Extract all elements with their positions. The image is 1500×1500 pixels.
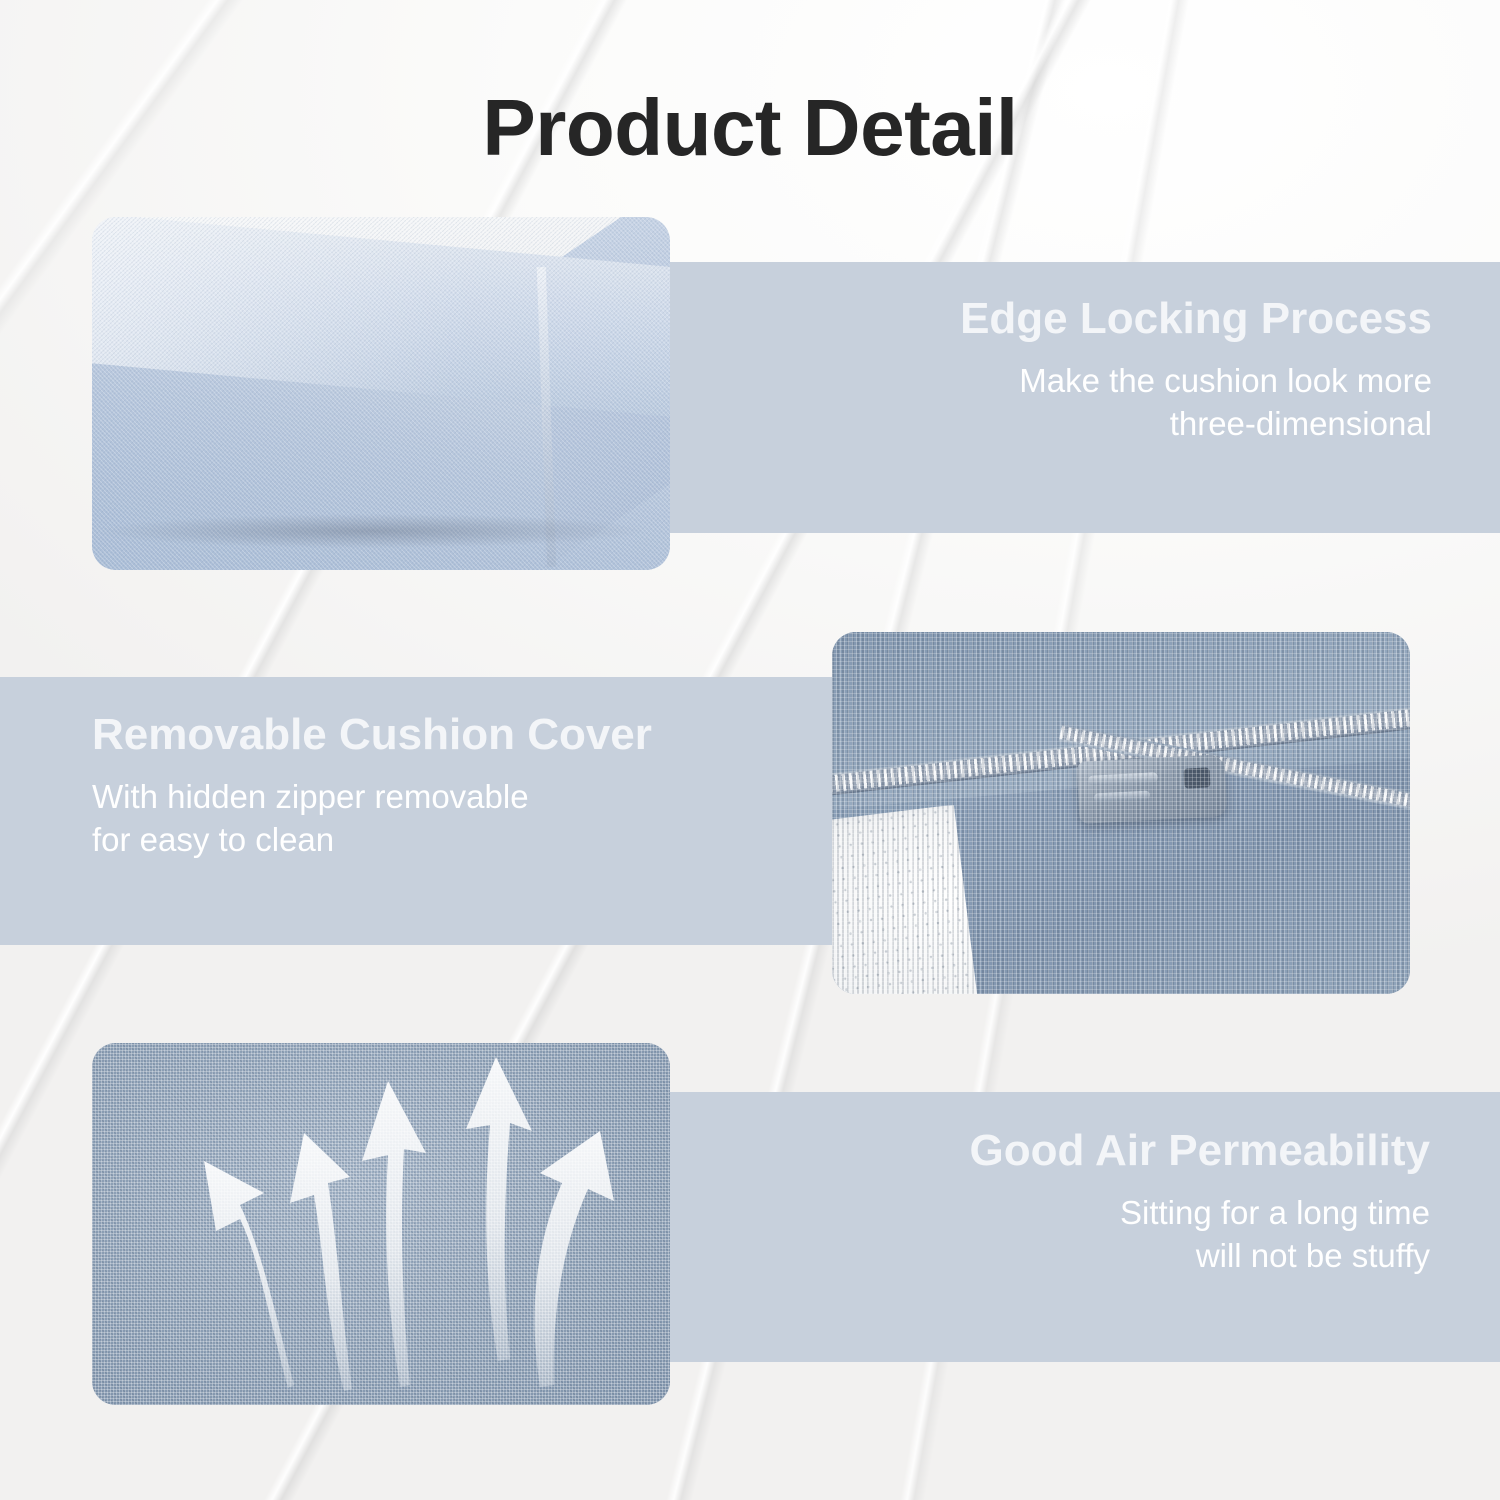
panel-heading-edge-locking: Edge Locking Process: [700, 296, 1432, 343]
panel-text-air-permeability: Good Air Permeability Sitting for a long…: [700, 1128, 1472, 1278]
airflow-arrows-fabric-photo: [92, 1043, 670, 1405]
airflow-arrows-group: [92, 1043, 670, 1405]
airflow-arrow-icon: [204, 1161, 294, 1388]
panel-subtext-air-permeability: Sitting for a long time will not be stuf…: [700, 1191, 1430, 1278]
panel-heading-air-permeability: Good Air Permeability: [700, 1128, 1430, 1175]
airflow-arrow-icon: [535, 1131, 614, 1387]
panel-subtext-line: With hidden zipper removable: [92, 775, 800, 819]
product-detail-infographic: Product Detail Edge Locking Process Make…: [0, 0, 1500, 1500]
airflow-arrow-icon: [466, 1057, 532, 1361]
cushion-contact-shadow: [95, 514, 649, 548]
panel-subtext-line: Make the cushion look more: [700, 359, 1432, 403]
panel-subtext-removable-cover: With hidden zipper removable for easy to…: [92, 775, 800, 862]
panel-heading-removable-cover: Removable Cushion Cover: [92, 712, 800, 759]
panel-subtext-line: for easy to clean: [92, 818, 800, 862]
airflow-arrow-icon: [290, 1133, 352, 1391]
panel-subtext-edge-locking: Make the cushion look more three-dimensi…: [700, 359, 1432, 446]
linen-weave-texture: [832, 632, 1410, 994]
panel-subtext-line: will not be stuffy: [700, 1234, 1430, 1278]
airflow-arrow-icon: [362, 1081, 426, 1387]
page-title: Product Detail: [0, 88, 1500, 168]
panel-subtext-line: three-dimensional: [700, 402, 1432, 446]
panel-subtext-line: Sitting for a long time: [700, 1191, 1430, 1235]
airflow-arrows: [204, 1057, 614, 1391]
panel-text-removable-cover: Removable Cushion Cover With hidden zipp…: [0, 712, 800, 862]
panel-text-edge-locking: Edge Locking Process Make the cushion lo…: [700, 296, 1472, 446]
cushion-corner-photo: [92, 217, 670, 570]
zipper-closeup-photo: [832, 632, 1410, 994]
